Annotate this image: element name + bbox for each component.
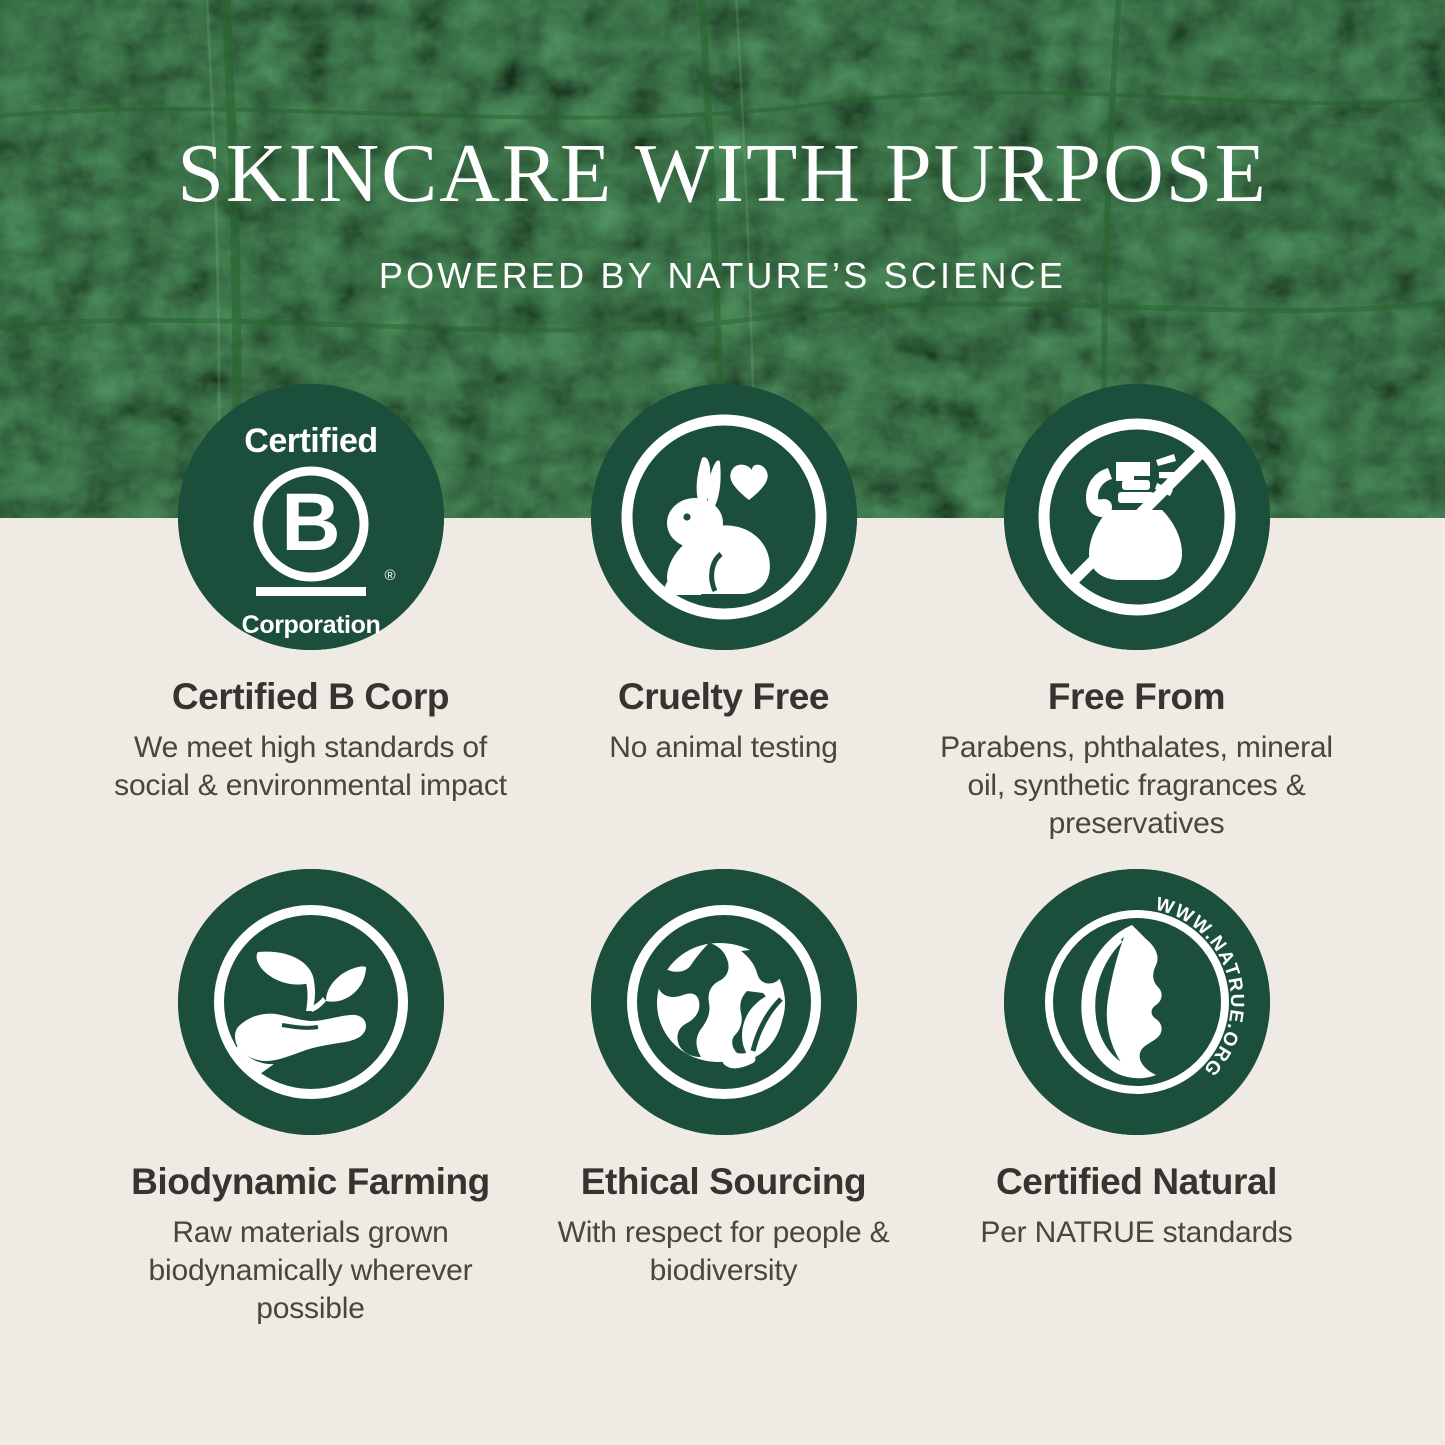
svg-text:®: ® — [384, 567, 395, 584]
svg-text:Certified: Certified — [244, 422, 377, 460]
rabbit-with-heart-icon — [591, 384, 857, 650]
badge-cell-biodynamic-farming: Biodynamic Farming Raw materials grown b… — [104, 869, 517, 1328]
badge-description: Per NATRUE standards — [930, 1214, 1343, 1252]
hand-holding-sprout-icon — [178, 869, 444, 1135]
no-spray-bottle-prohibition-icon — [1004, 384, 1270, 650]
skincare-with-purpose-infographic: SKINCARE WITH PURPOSE POWERED BY NATURE’… — [0, 0, 1445, 1445]
badge-title: Cruelty Free — [517, 678, 930, 717]
badge-description: Parabens, phthalates, mineral oil, synth… — [930, 729, 1343, 843]
b-corp-logo-icon: Certified B ® Corporation — [178, 384, 444, 650]
hero-subtitle: POWERED BY NATURE’S SCIENCE — [0, 258, 1445, 294]
badge-cell-certified-natural: WWW.NATRUE.ORG Certified Natural Per NAT… — [930, 869, 1343, 1252]
badge-description: No animal testing — [517, 729, 930, 767]
globe-with-leaf-icon — [591, 869, 857, 1135]
natrue-face-leaf-logo-icon: WWW.NATRUE.ORG — [1004, 869, 1270, 1135]
svg-text:Corporation: Corporation — [241, 611, 380, 639]
svg-text:B: B — [281, 477, 340, 568]
badge-title: Free From — [930, 678, 1343, 717]
badge-description: We meet high standards of social & envir… — [104, 729, 517, 805]
badge-title: Ethical Sourcing — [517, 1163, 930, 1202]
badge-title: Biodynamic Farming — [104, 1163, 517, 1202]
badge-cell-ethical-sourcing: Ethical Sourcing With respect for people… — [517, 869, 930, 1290]
badge-description: With respect for people & biodiversity — [517, 1214, 930, 1290]
badge-title: Certified Natural — [930, 1163, 1343, 1202]
badge-description: Raw materials grown biodynamically where… — [104, 1214, 517, 1328]
hero-title: SKINCARE WITH PURPOSE — [0, 132, 1445, 216]
badge-title: Certified B Corp — [104, 678, 517, 717]
